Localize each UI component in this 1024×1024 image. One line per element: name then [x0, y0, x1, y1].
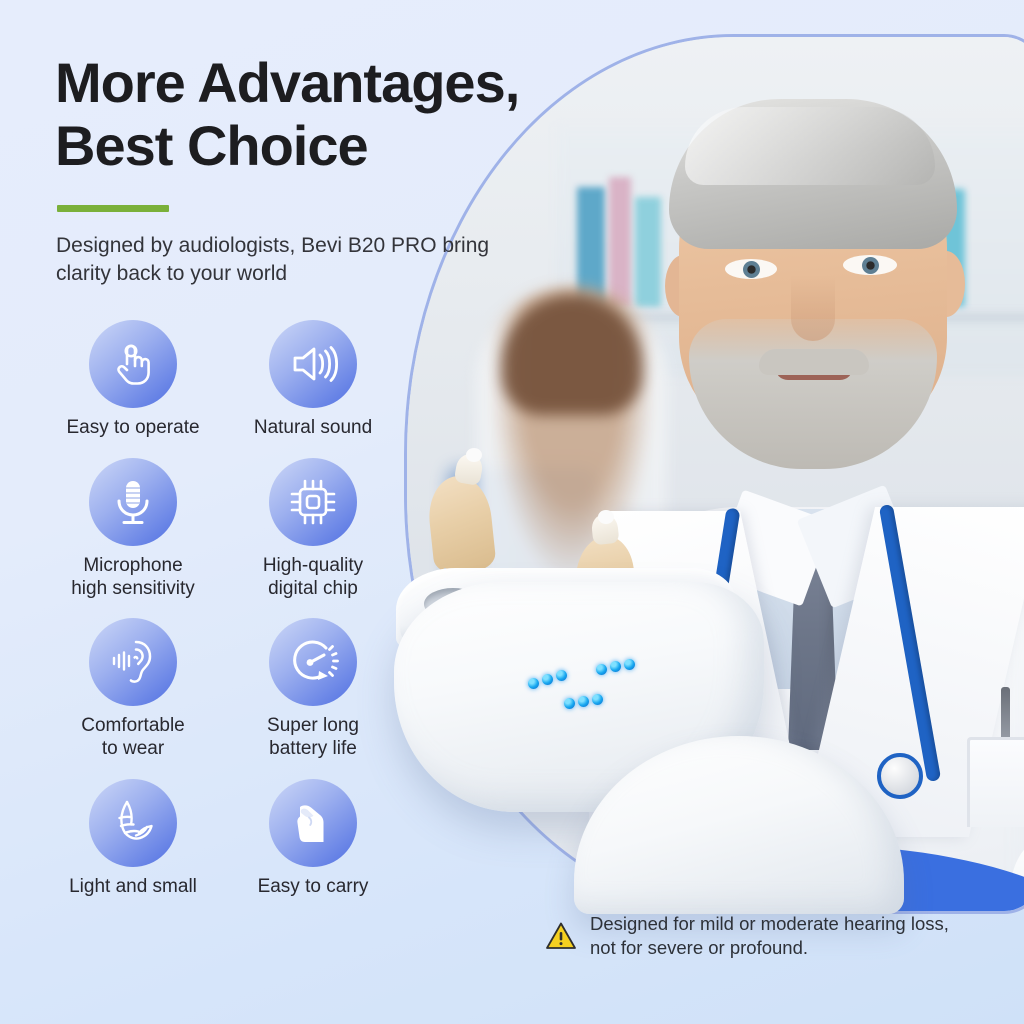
feature-label: Microphone high sensitivity — [71, 555, 195, 601]
led-dot — [542, 674, 553, 685]
hand-hold-icon — [286, 796, 340, 850]
feature-label: Light and small — [69, 876, 197, 899]
led-indicator-cluster — [528, 656, 708, 736]
cpu-chip-icon — [287, 476, 339, 528]
led-dot — [528, 678, 539, 689]
warning-triangle-icon — [545, 921, 577, 951]
eye-right — [843, 255, 897, 275]
feature-item-light-and-small[interactable]: Light and small — [48, 779, 218, 899]
feature-item-easy-to-operate[interactable]: Easy to operate — [48, 320, 218, 440]
feature-icon-circle — [269, 320, 357, 408]
coat-pocket — [967, 737, 1024, 827]
feature-label: Super long battery life — [267, 715, 359, 761]
feature-icon-circle — [89, 320, 177, 408]
feature-item-microphone[interactable]: Microphone high sensitivity — [48, 458, 218, 601]
ear-sound-icon — [106, 635, 160, 689]
subtitle: Designed by audiologists, Bevi B20 PRO b… — [56, 232, 526, 288]
iris-left — [743, 261, 760, 278]
disclaimer-text: Designed for mild or moderate hearing lo… — [590, 912, 949, 961]
led-dot — [610, 661, 621, 672]
speaker-sound-icon — [287, 338, 339, 390]
mustache — [759, 349, 869, 375]
product-hearing-aid-case — [378, 440, 938, 920]
nose — [791, 275, 835, 341]
feature-label: Natural sound — [254, 417, 372, 440]
disclaimer: Designed for mild or moderate hearing lo… — [545, 912, 975, 961]
led-dot — [592, 694, 603, 705]
feature-icon-circle — [269, 458, 357, 546]
led-dot — [556, 670, 567, 681]
hearing-aid-dome-right — [598, 510, 614, 524]
feature-icon-circle — [89, 458, 177, 546]
feature-grid: Easy to operate Natural sound — [48, 320, 398, 899]
led-dot — [624, 659, 635, 670]
feature-icon-circle — [269, 779, 357, 867]
feature-item-easy-to-carry[interactable]: Easy to carry — [228, 779, 398, 899]
feature-item-digital-chip[interactable]: High-quality digital chip — [228, 458, 398, 601]
feature-icon-circle — [89, 779, 177, 867]
microphone-icon — [107, 476, 159, 528]
led-dot — [578, 696, 589, 707]
tap-hand-icon — [107, 338, 159, 390]
feature-item-comfortable-to-wear[interactable]: Comfortable to wear — [48, 618, 218, 761]
page-title: More Advantages, Best Choice — [55, 52, 635, 177]
gauge-battery-icon — [286, 635, 340, 689]
feature-item-natural-sound[interactable]: Natural sound — [228, 320, 398, 440]
feather-icon — [106, 796, 160, 850]
hearing-aid-dome-left — [466, 448, 482, 462]
feature-label: Comfortable to wear — [81, 715, 185, 761]
feature-icon-circle — [89, 618, 177, 706]
hair-highlight — [685, 107, 935, 185]
feature-label: Easy to operate — [66, 417, 199, 440]
feature-icon-circle — [269, 618, 357, 706]
feature-label: Easy to carry — [258, 876, 369, 899]
poster-canvas: More Advantages, Best Choice Designed by… — [0, 0, 1024, 1024]
feature-label: High-quality digital chip — [263, 555, 363, 601]
eye-left — [725, 259, 777, 279]
led-dot — [596, 664, 607, 675]
hearing-aid-shell-left — [425, 473, 497, 575]
accent-divider — [57, 205, 169, 212]
iris-right — [862, 257, 879, 274]
led-dot — [564, 698, 575, 709]
feature-item-battery-life[interactable]: Super long battery life — [228, 618, 398, 761]
